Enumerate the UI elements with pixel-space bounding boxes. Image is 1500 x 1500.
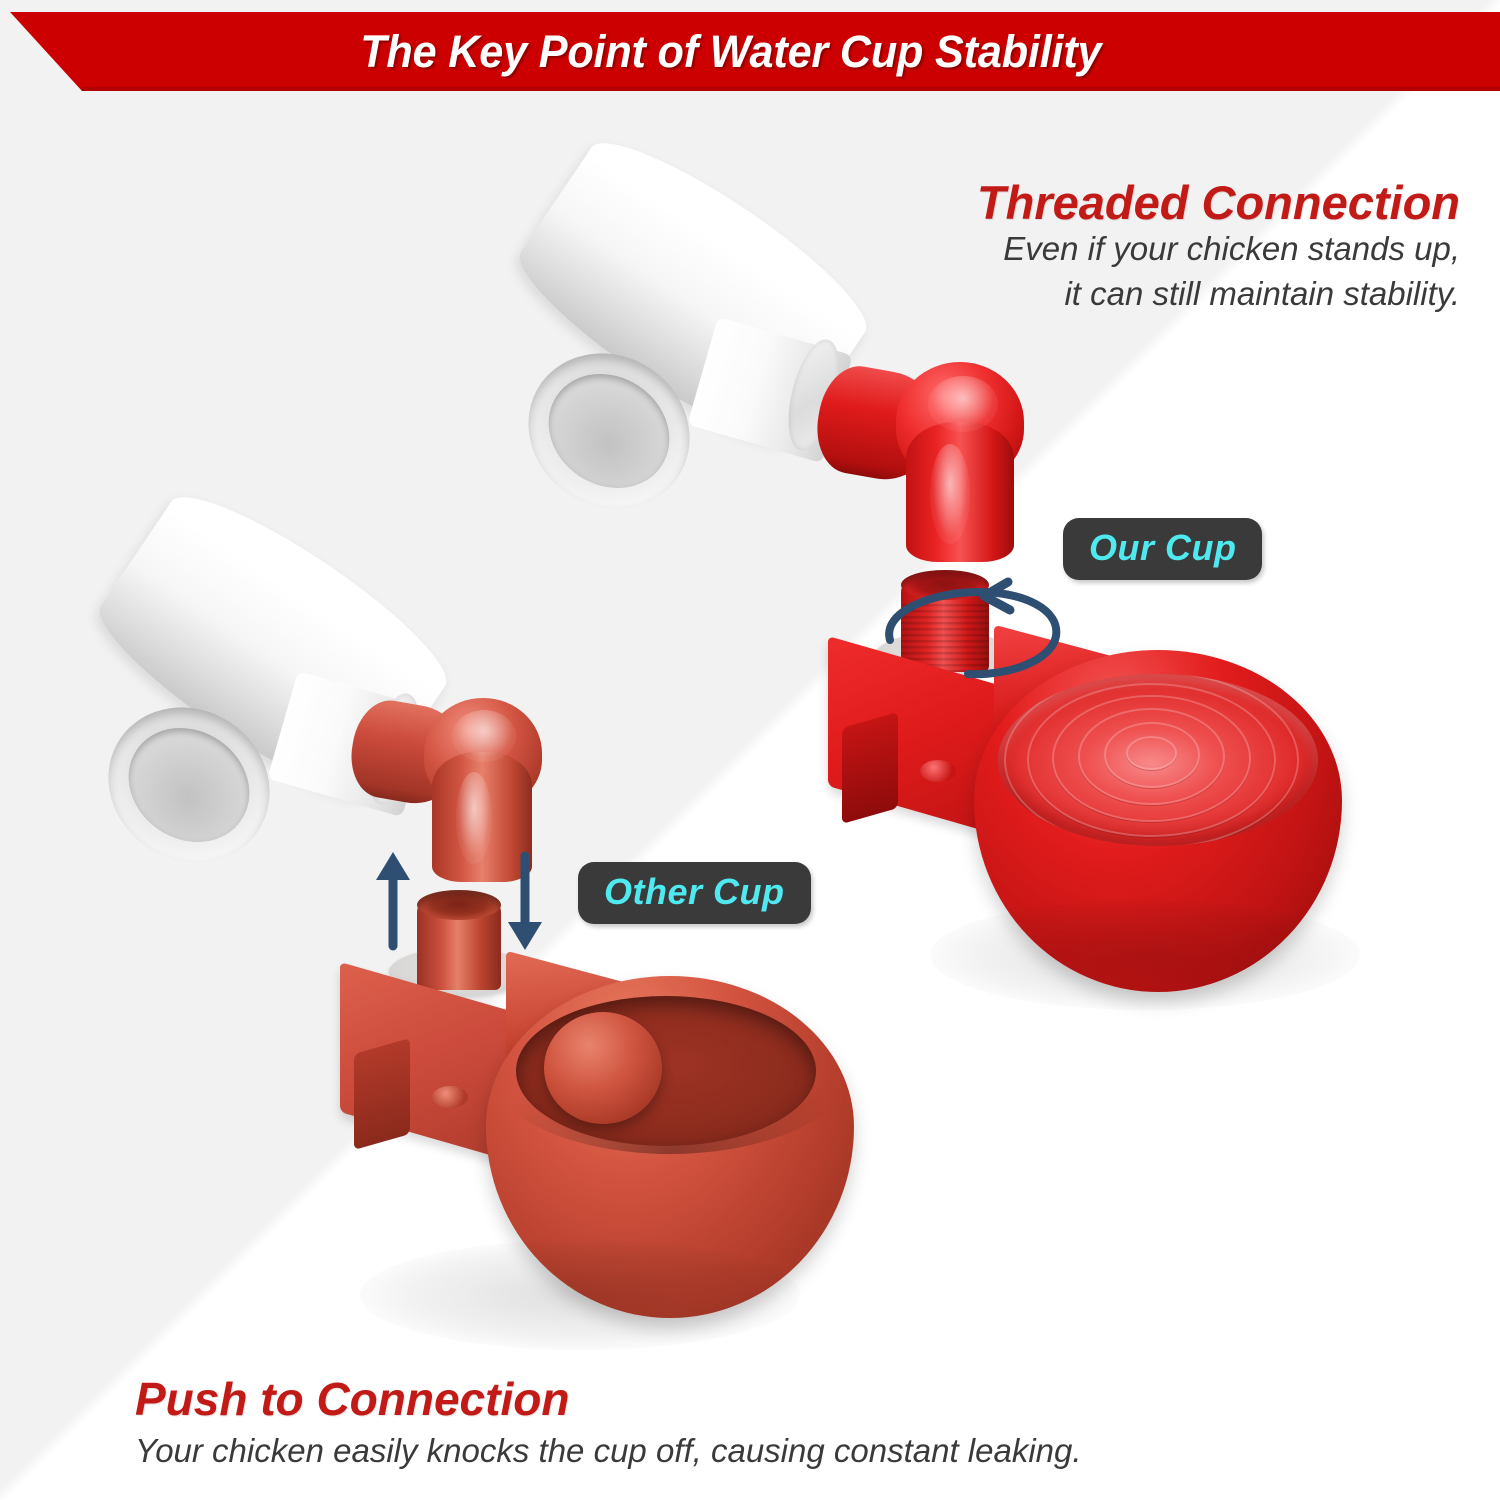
subtext-threaded-line-1: Even if your chicken stands up, xyxy=(977,227,1460,271)
headline-threaded-connection: Threaded Connection xyxy=(977,178,1460,227)
badge-other-cup: Other Cup xyxy=(578,862,811,924)
callout-push-to-connection: Push to Connection Your chicken easily k… xyxy=(135,1375,1082,1474)
subtext-threaded-line-2: it can still maintain stability. xyxy=(977,272,1460,316)
banner-title: The Key Point of Water Cup Stability xyxy=(30,26,1470,78)
headline-push-to-connection: Push to Connection xyxy=(135,1375,1082,1423)
badge-our-cup: Our Cup xyxy=(1063,518,1262,580)
header-banner: The Key Point of Water Cup Stability xyxy=(0,12,1500,91)
subtext-push-line-1: Your chicken easily knocks the cup off, … xyxy=(135,1429,1082,1473)
callout-threaded-connection: Threaded Connection Even if your chicken… xyxy=(977,178,1460,316)
infographic-canvas: The Key Point of Water Cup Stability xyxy=(0,0,1500,1500)
